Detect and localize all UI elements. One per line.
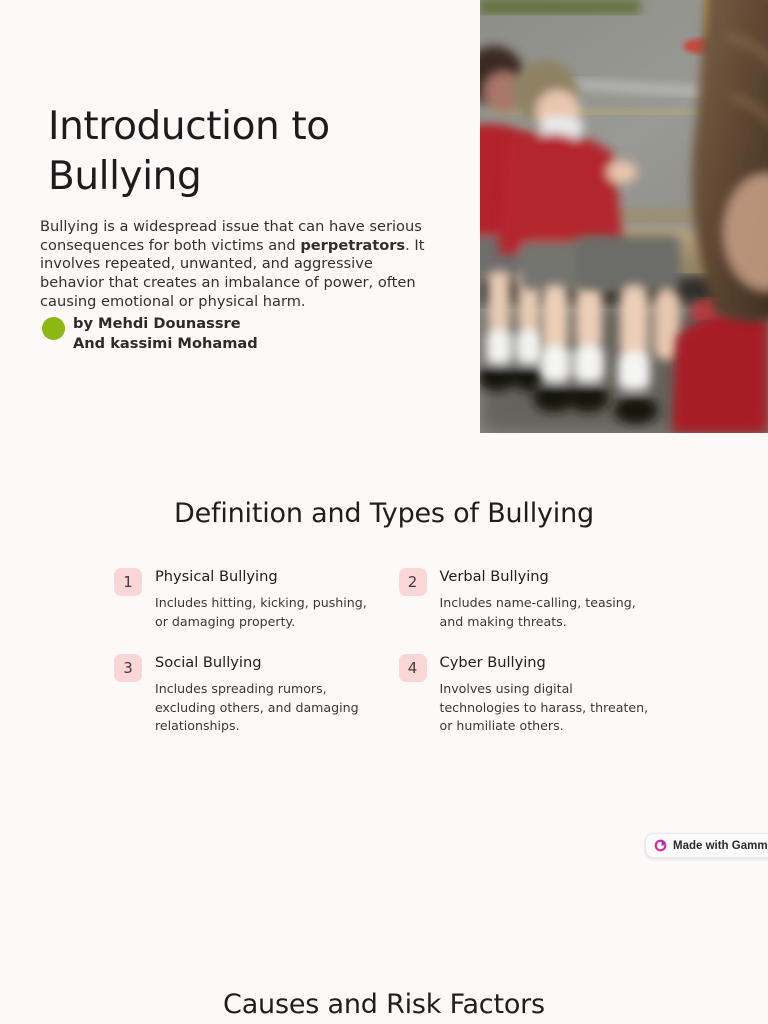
gamma-logo-icon xyxy=(654,839,667,852)
section-definition-and-types: Definition and Types of Bullying 1 Physi… xyxy=(0,497,768,736)
list-item: 3 Social Bullying Includes spreading rum… xyxy=(114,653,370,736)
type-title: Verbal Bullying xyxy=(440,567,655,586)
type-content: Physical Bullying Includes hitting, kick… xyxy=(155,567,370,631)
intro-paragraph: Bullying is a widespread issue that can … xyxy=(40,218,430,312)
type-description: Includes hitting, kicking, pushing, or d… xyxy=(155,594,370,631)
type-content: Cyber Bullying Involves using digital te… xyxy=(440,653,655,736)
type-number-badge: 1 xyxy=(114,568,142,596)
type-content: Verbal Bullying Includes name-calling, t… xyxy=(440,567,655,631)
made-with-gamma-badge-page[interactable]: Made with Gamma xyxy=(645,833,768,858)
type-title: Cyber Bullying xyxy=(440,653,655,672)
bullying-types-grid: 1 Physical Bullying Includes hitting, ki… xyxy=(114,567,654,736)
section-heading-definition: Definition and Types of Bullying xyxy=(0,497,768,531)
list-item: 4 Cyber Bullying Involves using digital … xyxy=(399,653,655,736)
page-title: Introduction to Bullying xyxy=(40,102,370,202)
type-description: Involves using digital technologies to h… xyxy=(440,680,655,736)
type-title: Physical Bullying xyxy=(155,567,370,586)
presentation-deck: Made with Gamma Introduction to Bullying… xyxy=(0,0,768,1024)
type-title: Social Bullying xyxy=(155,653,370,672)
list-item: 1 Physical Bullying Includes hitting, ki… xyxy=(114,567,370,631)
type-number-badge: 3 xyxy=(114,654,142,682)
type-number-badge: 2 xyxy=(399,568,427,596)
type-description: Includes name-calling, teasing, and maki… xyxy=(440,594,655,631)
slide-causes-and-risk-factors: Causes and Risk Factors xyxy=(0,880,768,1024)
type-content: Social Bullying Includes spreading rumor… xyxy=(155,653,370,736)
type-number-badge: 4 xyxy=(399,654,427,682)
author-line-2: And kassimi Mohamad xyxy=(40,334,430,354)
list-item: 2 Verbal Bullying Includes name-calling,… xyxy=(399,567,655,631)
type-description: Includes spreading rumors, excluding oth… xyxy=(155,680,370,736)
gamma-badge-label: Made with Gamma xyxy=(673,840,768,852)
author-line-1: by Mehdi Dounassre xyxy=(40,314,430,334)
slide-introduction: Made with Gamma Introduction to Bullying… xyxy=(0,0,768,880)
hero-photo-children-playground: Made with Gamma xyxy=(480,0,768,433)
hero-text-block: Introduction to Bullying Bullying is a w… xyxy=(0,0,470,354)
green-bullet-dot-icon xyxy=(42,317,65,340)
intro-paragraph-bold-term: perpetrators xyxy=(300,237,405,254)
authors-block: by Mehdi Dounassre And kassimi Mohamad xyxy=(40,314,430,354)
section-heading-causes: Causes and Risk Factors xyxy=(0,988,768,1022)
